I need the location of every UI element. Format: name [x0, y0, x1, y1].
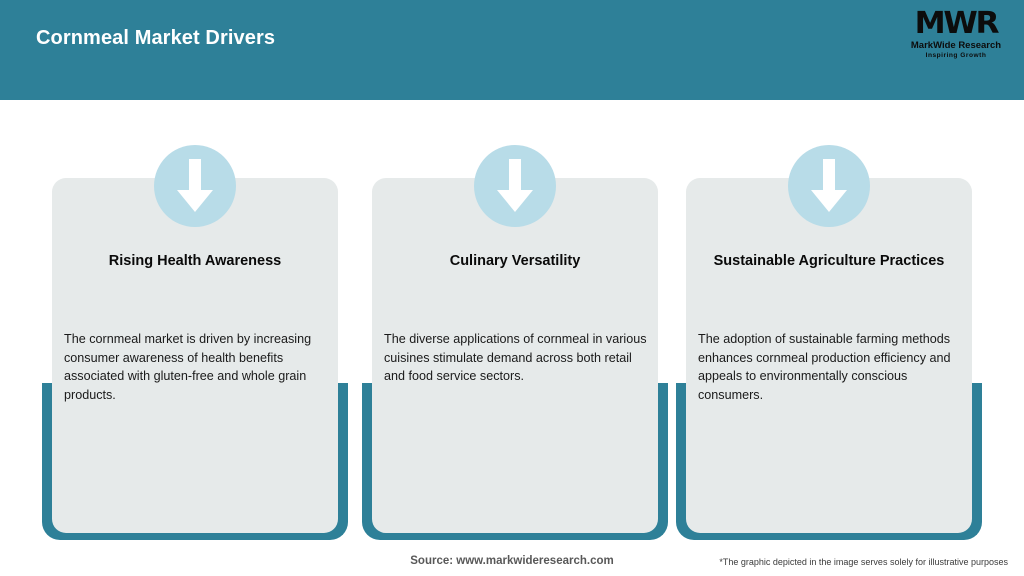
- card-title: Rising Health Awareness: [64, 250, 326, 272]
- company-logo: MWR MarkWide Research Inspiring Growth: [902, 9, 1010, 60]
- disclaimer-note: *The graphic depicted in the image serve…: [719, 557, 1008, 567]
- down-arrow-badge: [788, 145, 870, 227]
- driver-card: Sustainable Agriculture Practices The ad…: [686, 178, 972, 533]
- card-title: Sustainable Agriculture Practices: [698, 250, 960, 272]
- card-body-text: The diverse applications of cornmeal in …: [384, 330, 650, 386]
- card-body-text: The cornmeal market is driven by increas…: [64, 330, 330, 404]
- card-title: Culinary Versatility: [384, 250, 646, 272]
- down-arrow-badge: [474, 145, 556, 227]
- driver-card-group: Sustainable Agriculture Practices The ad…: [676, 140, 982, 550]
- logo-company-name: MarkWide Research: [902, 40, 1010, 51]
- driver-card-group: Culinary Versatility The diverse applica…: [362, 140, 668, 550]
- down-arrow-badge: [154, 145, 236, 227]
- card-body-text: The adoption of sustainable farming meth…: [698, 330, 968, 404]
- driver-card: Rising Health Awareness The cornmeal mar…: [52, 178, 338, 533]
- header-bar: [0, 0, 1024, 100]
- driver-card-group: Rising Health Awareness The cornmeal mar…: [42, 140, 348, 550]
- page-title: Cornmeal Market Drivers: [36, 27, 275, 50]
- logo-monogram-icon: MWR: [900, 9, 1012, 39]
- logo-tagline: Inspiring Growth: [902, 51, 1010, 60]
- driver-card: Culinary Versatility The diverse applica…: [372, 178, 658, 533]
